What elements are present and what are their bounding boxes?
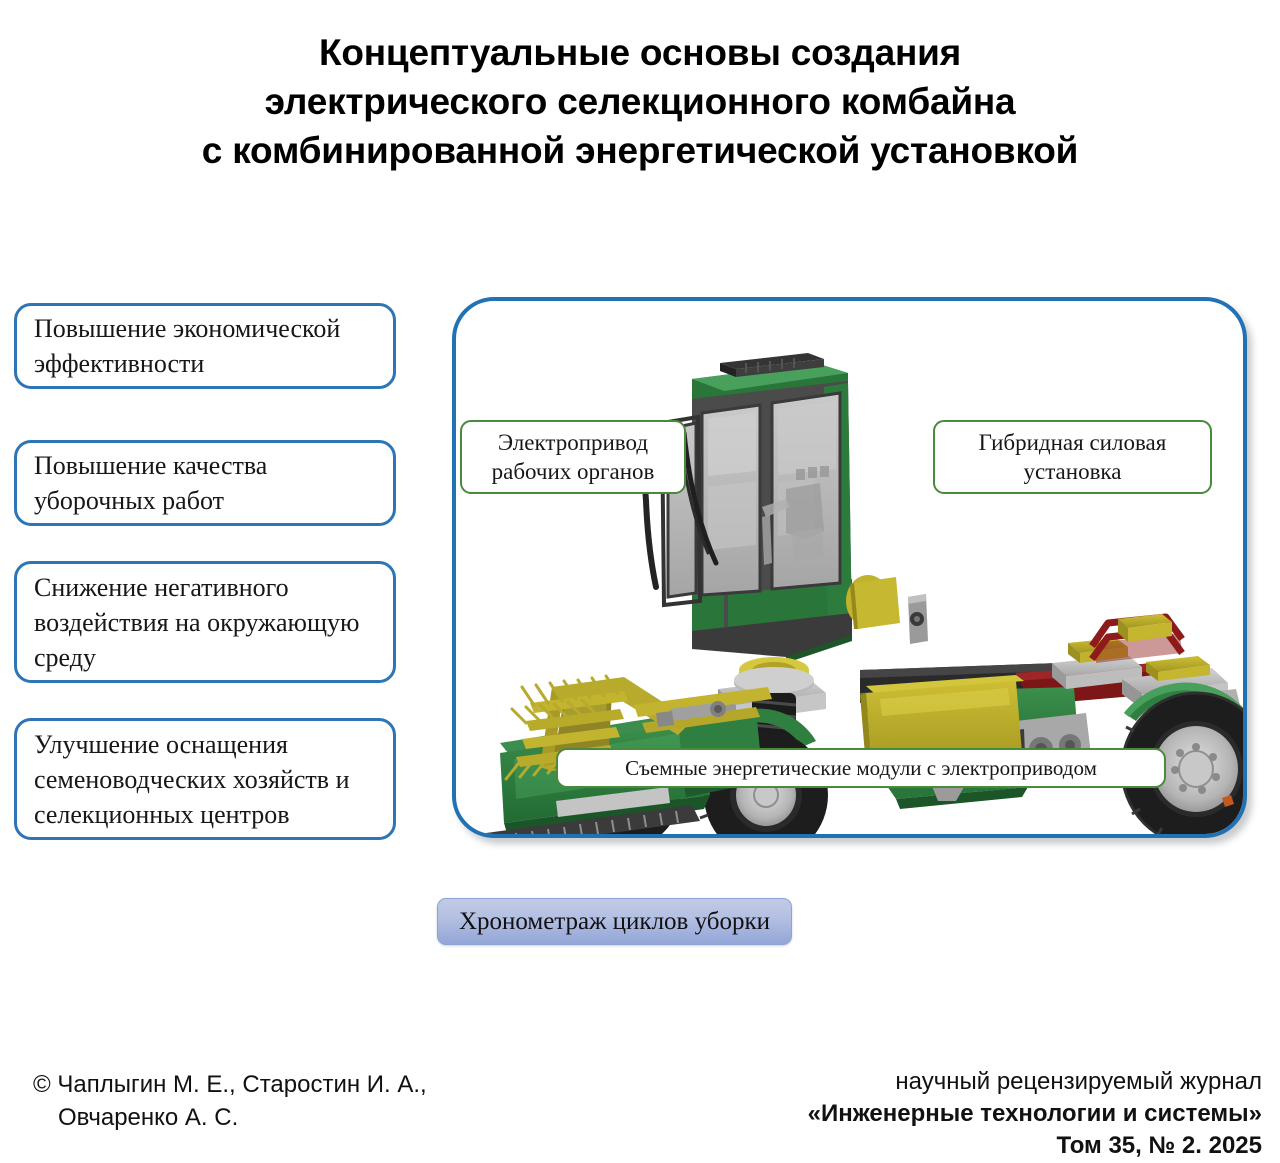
footer-authors: © Чаплыгин М. Е., Старостин И. А., Овчар… — [33, 1068, 653, 1134]
callout-hybrid-power-unit[interactable]: Гибридная силовая установка — [933, 420, 1212, 494]
footer-journal: научный рецензируемый журнал «Инженерные… — [562, 1066, 1262, 1162]
harvest-cycle-timing-button[interactable]: Хронометраж циклов уборки — [437, 898, 792, 945]
benefit-box-economic-efficiency[interactable]: Повышение экономической эффективности — [14, 303, 396, 389]
page-title-line-1: Концептуальные основы создания — [0, 28, 1280, 77]
footer-authors-line-2: Овчаренко А. С. — [33, 1101, 653, 1134]
callout-removable-energy-modules[interactable]: Съемные энергетические модули с электроп… — [556, 748, 1166, 788]
page-title-line-3: с комбинированной энергетической установ… — [0, 126, 1280, 175]
benefit-box-seed-farm-equipment[interactable]: Улучшение оснащения семеноводческих хозя… — [14, 718, 396, 840]
timing-button-label: Хронометраж циклов уборки — [459, 908, 770, 936]
callout-label: Гибридная силовая установка — [935, 428, 1210, 486]
callout-electric-drive[interactable]: Электропривод рабочих органов — [460, 420, 686, 494]
benefit-box-environmental-impact[interactable]: Снижение негативного воздействия на окру… — [14, 561, 396, 683]
benefit-label: Снижение негативного воздействия на окру… — [34, 570, 379, 675]
footer-journal-line-3: Том 35, № 2. 2025 — [562, 1130, 1262, 1162]
page-title: Концептуальные основы создания электриче… — [0, 28, 1280, 175]
footer-journal-line-1: научный рецензируемый журнал — [562, 1066, 1262, 1098]
benefit-box-harvest-quality[interactable]: Повышение качества уборочных работ — [14, 440, 396, 526]
benefit-label: Улучшение оснащения семеноводческих хозя… — [34, 727, 379, 832]
footer-journal-line-2: «Инженерные технологии и системы» — [562, 1098, 1262, 1130]
page-title-line-2: электрического селекционного комбайна — [0, 77, 1280, 126]
benefit-label: Повышение экономической эффективности — [34, 311, 379, 381]
footer-authors-line-1: © Чаплыгин М. Е., Старостин И. А., — [33, 1068, 653, 1101]
callout-label: Электропривод рабочих органов — [462, 428, 684, 486]
benefit-label: Повышение качества уборочных работ — [34, 448, 379, 518]
callout-label: Съемные энергетические модули с электроп… — [625, 755, 1097, 781]
